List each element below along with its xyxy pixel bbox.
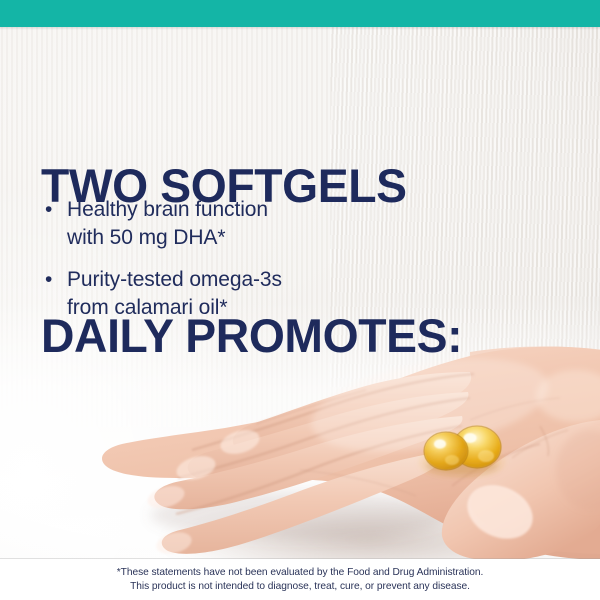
list-item: • Healthy brain function with 50 mg DHA* [42, 196, 372, 252]
teal-accent-bar [0, 0, 600, 27]
footer-divider [0, 558, 600, 559]
disclaimer-line-2: This product is not intended to diagnose… [0, 580, 600, 594]
bullet-dot-icon: • [42, 196, 67, 224]
list-item: • Purity-tested omega-3s from calamari o… [42, 266, 372, 322]
teal-bar-shadow [0, 27, 600, 30]
product-benefits-poster: TWO SOFTGELS DAILY PROMOTES: • Healthy b… [0, 0, 600, 600]
disclaimer-line-1: *These statements have not been evaluate… [0, 566, 600, 580]
benefit-text: Purity-tested omega-3s from calamari oil… [67, 266, 282, 322]
disclaimer: *These statements have not been evaluate… [0, 566, 600, 593]
bullet-dot-icon: • [42, 266, 67, 294]
benefits-list: • Healthy brain function with 50 mg DHA*… [42, 196, 372, 336]
benefit-text: Healthy brain function with 50 mg DHA* [67, 196, 268, 252]
